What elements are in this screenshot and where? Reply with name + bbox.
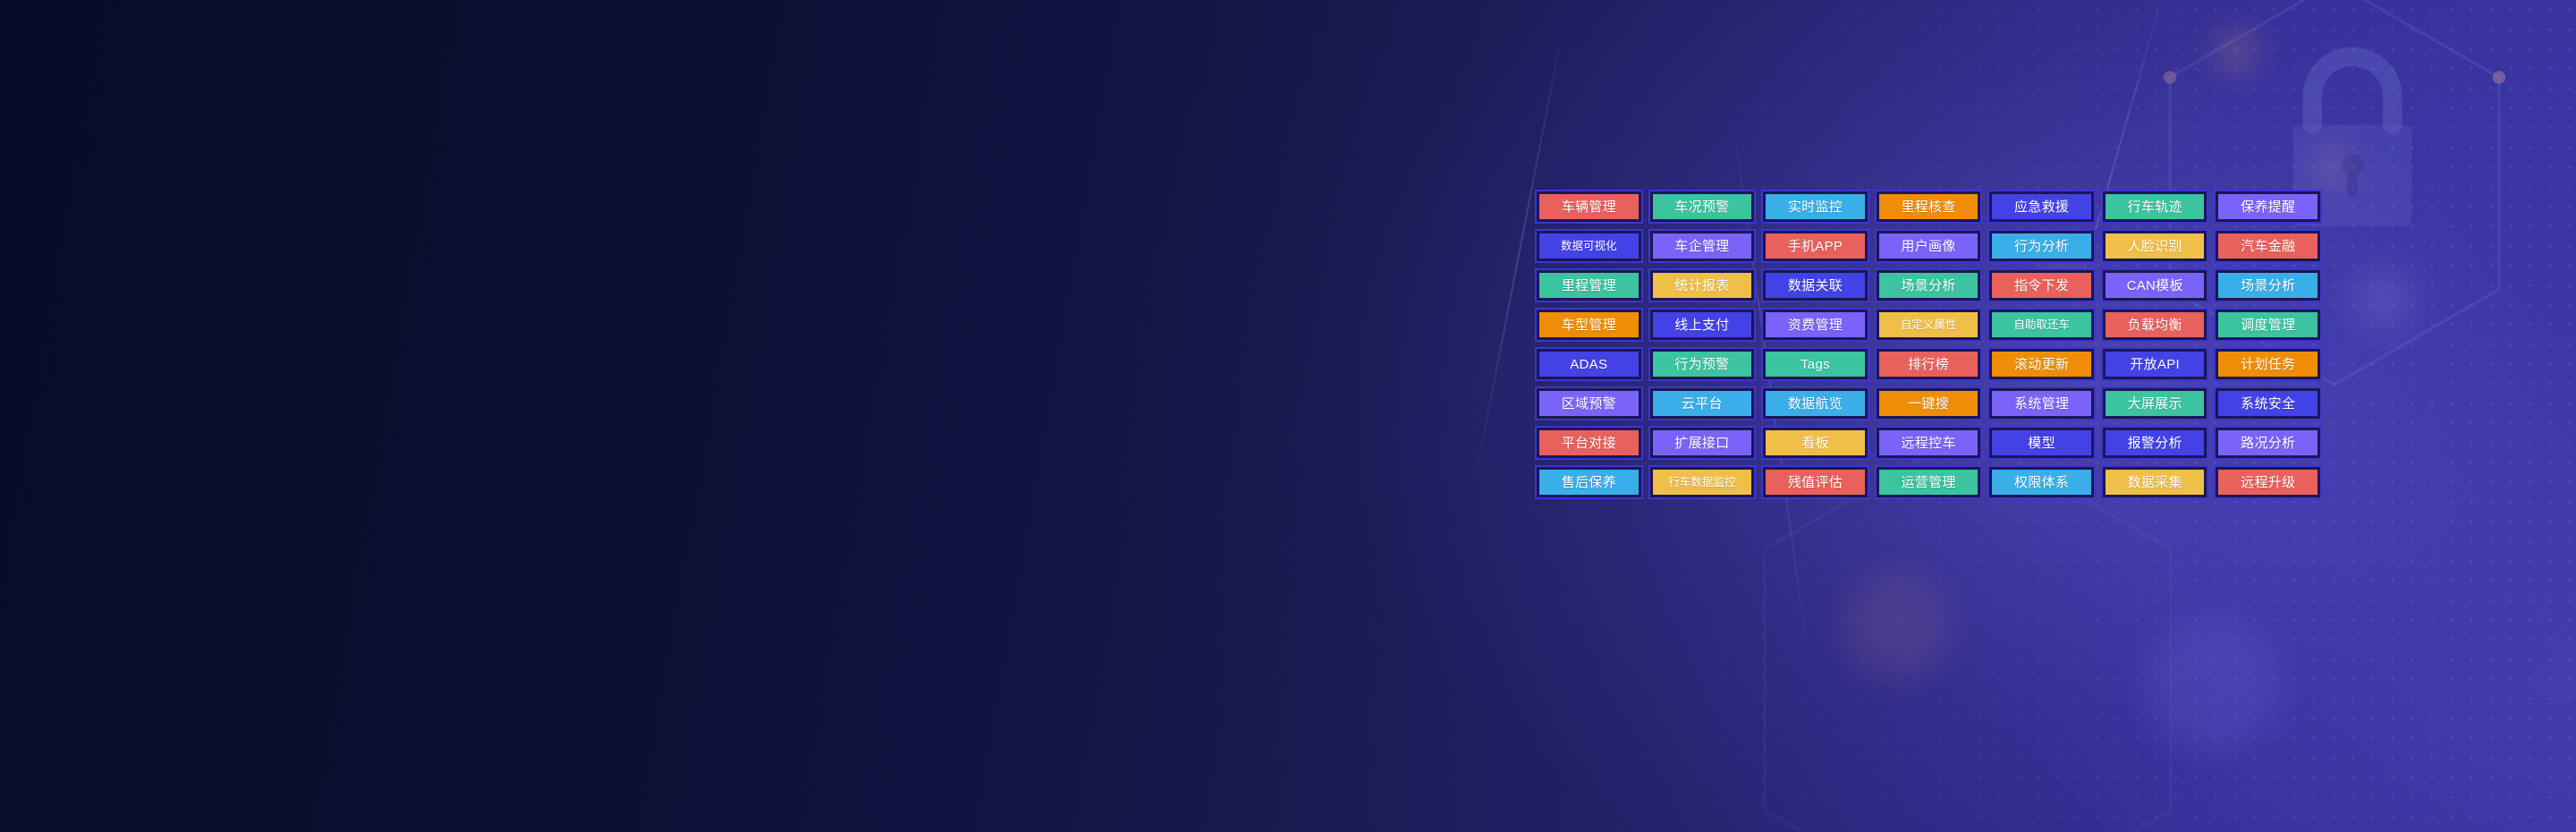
tile-label: 车况预警 xyxy=(1674,200,1729,214)
feature-tag-tile[interactable]: 行为分析 xyxy=(1987,229,2096,263)
feature-tag-tile[interactable]: 手机APP xyxy=(1761,229,1869,263)
tile-fill: Tags xyxy=(1766,352,1865,377)
tile-fill: 用户画像 xyxy=(1879,233,1979,259)
feature-tag-tile[interactable]: 车辆管理 xyxy=(1535,190,1643,224)
feature-tag-tile[interactable]: 用户画像 xyxy=(1875,229,1983,263)
tile-label: 里程管理 xyxy=(1562,279,1616,293)
tile-label: 残值评估 xyxy=(1788,476,1843,489)
tile-fill: 模型 xyxy=(1992,430,2091,455)
feature-tag-tile[interactable]: 残值评估 xyxy=(1761,465,1869,499)
tile-label: 车型管理 xyxy=(1562,318,1616,332)
tile-label: 系统管理 xyxy=(2014,397,2069,411)
tag-grid-row: 车型管理线上支付资费管理自定义属性自助取还车负载均衡调度管理 xyxy=(1535,308,2322,342)
tile-fill: 报警分析 xyxy=(2106,430,2205,455)
tile-fill: 系统管理 xyxy=(1992,391,2091,416)
tag-grid-row: 区域预警云平台数据航览一键搜系统管理大屏展示系统安全 xyxy=(1535,386,2322,420)
tile-label: 资费管理 xyxy=(1788,318,1843,332)
tile-label: 汽车金融 xyxy=(2241,240,2295,253)
tile-label: 售后保养 xyxy=(1562,476,1616,489)
feature-tag-tile[interactable]: 滚动更新 xyxy=(1987,347,2096,381)
feature-tag-tile[interactable]: 系统管理 xyxy=(1987,386,2096,420)
tile-fill: 售后保养 xyxy=(1539,470,1639,495)
tile-fill: CAN模板 xyxy=(2106,273,2205,298)
feature-tag-tile[interactable]: 售后保养 xyxy=(1535,465,1643,499)
feature-tag-tile[interactable]: 系统安全 xyxy=(2214,386,2322,420)
tile-label: 指令下发 xyxy=(2014,279,2069,293)
feature-tag-tile[interactable]: 车型管理 xyxy=(1535,308,1643,342)
feature-tag-tile[interactable]: 数据采集 xyxy=(2101,465,2209,499)
tile-fill: 排行榜 xyxy=(1879,352,1979,377)
tile-fill: 计划任务 xyxy=(2218,352,2318,377)
tile-label: 计划任务 xyxy=(2241,358,2295,371)
feature-tag-tile[interactable]: 远程控车 xyxy=(1875,426,1983,460)
tile-fill: 保养提醒 xyxy=(2218,194,2318,219)
feature-tag-tile[interactable]: 区域预警 xyxy=(1535,386,1643,420)
feature-tag-tile[interactable]: ADAS xyxy=(1535,347,1643,381)
tag-grid-row: ADAS行为预警Tags排行榜滚动更新开放API计划任务 xyxy=(1535,347,2322,381)
tile-label: 排行榜 xyxy=(1908,358,1949,371)
feature-tag-tile[interactable]: 大屏展示 xyxy=(2101,386,2209,420)
feature-tag-tile[interactable]: 行为预警 xyxy=(1648,347,1757,381)
feature-tag-tile[interactable]: 权限体系 xyxy=(1987,465,2096,499)
tile-label: CAN模板 xyxy=(2127,279,2183,293)
tile-fill: 远程升级 xyxy=(2218,470,2318,495)
glow-dot xyxy=(2147,617,2281,751)
tile-label: 系统安全 xyxy=(2241,397,2295,411)
feature-tag-tile[interactable]: 排行榜 xyxy=(1875,347,1983,381)
feature-tag-tile[interactable]: 负载均衡 xyxy=(2101,308,2209,342)
tile-label: ADAS xyxy=(1570,358,1607,371)
tile-fill: 数据关联 xyxy=(1766,273,1865,298)
tile-label: 人脸识别 xyxy=(2128,240,2182,253)
tile-fill: 平台对接 xyxy=(1539,430,1639,455)
tile-fill: 云平台 xyxy=(1653,391,1752,416)
feature-tag-tile[interactable]: 开放API xyxy=(2101,347,2209,381)
tile-fill: 权限体系 xyxy=(1992,470,2091,495)
tag-grid-row: 售后保养行车数据监控残值评估运营管理权限体系数据采集远程升级 xyxy=(1535,465,2322,499)
feature-tag-tile[interactable]: 计划任务 xyxy=(2214,347,2322,381)
tile-label: 数据关联 xyxy=(1788,279,1843,293)
tile-label: 保养提醒 xyxy=(2241,200,2295,214)
feature-tag-tile[interactable]: 行车轨迹 xyxy=(2101,190,2209,224)
glow-dot xyxy=(1843,573,1950,680)
glow-dot xyxy=(2352,268,2415,331)
tile-fill: 行为分析 xyxy=(1992,233,2091,259)
tile-fill: 行车轨迹 xyxy=(2106,194,2205,219)
feature-tag-tile[interactable]: 车企管理 xyxy=(1648,229,1757,263)
feature-tag-tile[interactable]: 调度管理 xyxy=(2214,308,2322,342)
tile-fill: ADAS xyxy=(1539,352,1639,377)
tile-label: 手机APP xyxy=(1788,240,1843,253)
tile-label: 远程升级 xyxy=(2241,476,2295,489)
tile-fill: 指令下发 xyxy=(1992,273,2091,298)
tile-label: 车企管理 xyxy=(1674,240,1729,253)
tile-label: 行为预警 xyxy=(1674,358,1729,371)
feature-tag-tile[interactable]: 资费管理 xyxy=(1761,308,1869,342)
feature-tag-tile[interactable]: 应急救援 xyxy=(1987,190,2096,224)
tile-fill: 车企管理 xyxy=(1653,233,1752,259)
feature-tag-tile[interactable]: 一键搜 xyxy=(1875,386,1983,420)
tile-fill: 残值评估 xyxy=(1766,470,1865,495)
feature-tag-tile[interactable]: 自定义属性 xyxy=(1875,308,1983,342)
feature-tag-tile[interactable]: Tags xyxy=(1761,347,1869,381)
tile-fill: 车辆管理 xyxy=(1539,194,1639,219)
tile-fill: 实时监控 xyxy=(1766,194,1865,219)
tile-label: 运营管理 xyxy=(1901,476,1955,489)
tile-label: 统计报表 xyxy=(1674,279,1729,293)
tag-grid-row: 里程管理统计报表数据关联场景分析指令下发CAN模板场景分析 xyxy=(1535,268,2322,302)
tile-label: 数据采集 xyxy=(2128,476,2182,489)
tile-fill: 开放API xyxy=(2106,352,2205,377)
tile-label: 扩展接口 xyxy=(1674,437,1729,450)
tile-fill: 数据航览 xyxy=(1766,391,1865,416)
tile-fill: 区域预警 xyxy=(1539,391,1639,416)
tile-label: 场景分析 xyxy=(2241,279,2295,293)
tile-fill: 场景分析 xyxy=(2218,273,2318,298)
feature-tag-tile[interactable]: 云平台 xyxy=(1648,386,1757,420)
tile-label: 自定义属性 xyxy=(1901,319,1957,331)
tile-fill: 自助取还车 xyxy=(1992,312,2091,337)
feature-tag-tile[interactable]: 实时监控 xyxy=(1761,190,1869,224)
tile-label: 里程核查 xyxy=(1901,200,1955,214)
tile-label: 数据航览 xyxy=(1788,397,1843,411)
tile-label: 线上支付 xyxy=(1674,318,1729,332)
tile-fill: 滚动更新 xyxy=(1992,352,2091,377)
tile-label: 远程控车 xyxy=(1901,437,1955,450)
feature-tag-tile[interactable]: 里程管理 xyxy=(1535,268,1643,302)
feature-tag-grid: 车辆管理车况预警实时监控里程核查应急救援行车轨迹保养提醒数据可视化车企管理手机A… xyxy=(1535,190,2322,499)
tile-fill: 扩展接口 xyxy=(1653,430,1752,455)
feature-tag-tile[interactable]: 扩展接口 xyxy=(1648,426,1757,460)
tile-fill: 自定义属性 xyxy=(1879,312,1979,337)
page-root: 车辆管理车况预警实时监控里程核查应急救援行车轨迹保养提醒数据可视化车企管理手机A… xyxy=(0,0,2576,832)
tile-label: 行车数据监控 xyxy=(1668,477,1735,488)
feature-tag-tile[interactable]: 统计报表 xyxy=(1648,268,1757,302)
tile-fill: 行为预警 xyxy=(1653,352,1752,377)
feature-tag-tile[interactable]: 自助取还车 xyxy=(1987,308,2096,342)
tile-label: 看板 xyxy=(1801,437,1829,450)
feature-tag-tile[interactable]: 模型 xyxy=(1987,426,2096,460)
tile-fill: 车型管理 xyxy=(1539,312,1639,337)
tile-fill: 一键搜 xyxy=(1879,391,1979,416)
tile-fill: 行车数据监控 xyxy=(1653,470,1752,495)
tile-fill: 车况预警 xyxy=(1653,194,1752,219)
feature-tag-tile[interactable]: 车况预警 xyxy=(1648,190,1757,224)
tile-fill: 看板 xyxy=(1766,430,1865,455)
feature-tag-tile[interactable]: 里程核查 xyxy=(1875,190,1983,224)
tile-fill: 数据采集 xyxy=(2106,470,2205,495)
tile-label: 负载均衡 xyxy=(2128,318,2182,332)
tile-label: 大屏展示 xyxy=(2128,397,2182,411)
tile-fill: 大屏展示 xyxy=(2106,391,2205,416)
tile-label: 权限体系 xyxy=(2014,476,2069,489)
tile-label: 一键搜 xyxy=(1908,397,1949,411)
tile-label: 平台对接 xyxy=(1562,437,1616,450)
tile-label: 开放API xyxy=(2130,358,2180,371)
tile-label: 数据可视化 xyxy=(1561,241,1617,252)
feature-tag-tile[interactable]: 远程升级 xyxy=(2214,465,2322,499)
glow-dot xyxy=(2318,152,2348,183)
tile-fill: 路况分析 xyxy=(2218,430,2318,455)
feature-tag-tile[interactable]: 保养提醒 xyxy=(2214,190,2322,224)
tile-fill: 系统安全 xyxy=(2218,391,2318,416)
feature-tag-tile[interactable]: 人脸识别 xyxy=(2101,229,2209,263)
feature-tag-tile[interactable]: 数据航览 xyxy=(1761,386,1869,420)
tag-grid-row: 车辆管理车况预警实时监控里程核查应急救援行车轨迹保养提醒 xyxy=(1535,190,2322,224)
feature-tag-tile[interactable]: 运营管理 xyxy=(1875,465,1983,499)
feature-tag-tile[interactable]: 场景分析 xyxy=(1875,268,1983,302)
tile-label: 应急救援 xyxy=(2014,200,2069,214)
tile-label: 模型 xyxy=(2028,437,2055,450)
tile-fill: 里程核查 xyxy=(1879,194,1979,219)
tile-fill: 应急救援 xyxy=(1992,194,2091,219)
tile-label: 路况分析 xyxy=(2241,437,2295,450)
tile-label: 调度管理 xyxy=(2241,318,2295,332)
tile-label: 滚动更新 xyxy=(2014,358,2069,371)
glow-dot xyxy=(2218,34,2254,70)
feature-tag-tile[interactable]: 平台对接 xyxy=(1535,426,1643,460)
tile-label: Tags xyxy=(1801,358,1830,371)
tile-fill: 数据可视化 xyxy=(1539,233,1639,259)
feature-tag-tile[interactable]: 报警分析 xyxy=(2101,426,2209,460)
feature-tag-tile[interactable]: 看板 xyxy=(1761,426,1869,460)
tile-label: 区域预警 xyxy=(1562,397,1616,411)
feature-tag-tile[interactable]: CAN模板 xyxy=(2101,268,2209,302)
feature-tag-tile[interactable]: 路况分析 xyxy=(2214,426,2322,460)
feature-tag-tile[interactable]: 行车数据监控 xyxy=(1648,465,1757,499)
tile-label: 自助取还车 xyxy=(2013,319,2070,331)
feature-tag-tile[interactable]: 汽车金融 xyxy=(2214,229,2322,263)
tag-grid-row: 数据可视化车企管理手机APP用户画像行为分析人脸识别汽车金融 xyxy=(1535,229,2322,263)
tile-label: 实时监控 xyxy=(1788,200,1843,214)
feature-tag-tile[interactable]: 指令下发 xyxy=(1987,268,2096,302)
tile-fill: 统计报表 xyxy=(1653,273,1752,298)
tile-fill: 负载均衡 xyxy=(2106,312,2205,337)
tile-fill: 手机APP xyxy=(1766,233,1865,259)
feature-tag-tile[interactable]: 线上支付 xyxy=(1648,308,1757,342)
tile-fill: 场景分析 xyxy=(1879,273,1979,298)
tile-fill: 运营管理 xyxy=(1879,470,1979,495)
tile-label: 报警分析 xyxy=(2128,437,2182,450)
feature-tag-tile[interactable]: 场景分析 xyxy=(2214,268,2322,302)
tile-label: 车辆管理 xyxy=(1562,200,1616,214)
tag-grid-row: 平台对接扩展接口看板远程控车模型报警分析路况分析 xyxy=(1535,426,2322,460)
feature-tag-tile[interactable]: 数据关联 xyxy=(1761,268,1869,302)
tile-fill: 人脸识别 xyxy=(2106,233,2205,259)
tile-fill: 汽车金融 xyxy=(2218,233,2318,259)
tile-fill: 资费管理 xyxy=(1766,312,1865,337)
tile-label: 用户画像 xyxy=(1901,240,1955,253)
tile-label: 场景分析 xyxy=(1901,279,1955,293)
tile-label: 行车轨迹 xyxy=(2128,200,2182,214)
tile-fill: 远程控车 xyxy=(1879,430,1979,455)
feature-tag-tile[interactable]: 数据可视化 xyxy=(1535,229,1643,263)
tile-fill: 调度管理 xyxy=(2218,312,2318,337)
tile-fill: 里程管理 xyxy=(1539,273,1639,298)
tile-label: 云平台 xyxy=(1682,397,1723,411)
tile-label: 行为分析 xyxy=(2014,240,2069,253)
tile-fill: 线上支付 xyxy=(1653,312,1752,337)
